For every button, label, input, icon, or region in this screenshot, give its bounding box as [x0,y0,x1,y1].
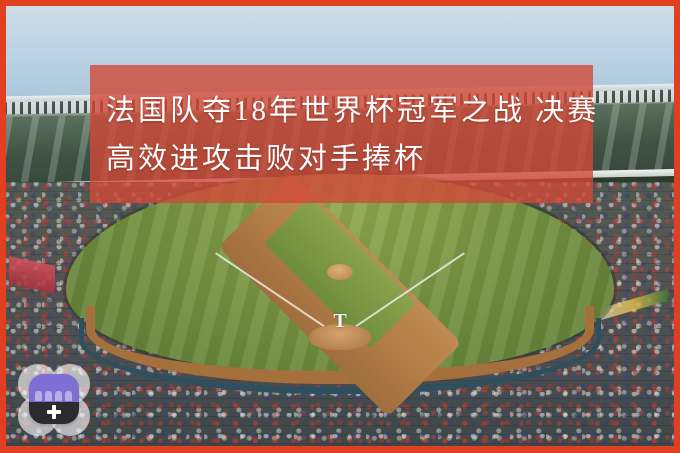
logo-key-2 [45,391,52,401]
logo-key-1 [35,391,42,401]
logo-badge[interactable] [29,374,79,424]
title-line-1: 法国队夺18年世界杯冠军之战 决赛 [106,87,577,135]
logo-watermark[interactable] [12,360,96,440]
logo-keys-icon [35,391,72,401]
screenshot-root: T 法国队夺18年世界杯冠军之战 决赛 高效进攻击败对手捧杯 [0,0,680,453]
stadium-photo: T 法国队夺18年世界杯冠军之战 决赛 高效进攻击败对手捧杯 [6,6,674,446]
plus-icon [47,405,61,419]
title-banner: 法国队夺18年世界杯冠军之战 决赛 高效进攻击败对手捧杯 [90,65,593,203]
field-logo-letter: T [327,310,353,332]
pitchers-mound [327,264,353,280]
logo-key-4 [65,391,72,401]
title-line-2: 高效进攻击败对手捧杯 [106,135,577,183]
logo-bottom-half [29,402,79,424]
logo-key-3 [55,391,62,401]
